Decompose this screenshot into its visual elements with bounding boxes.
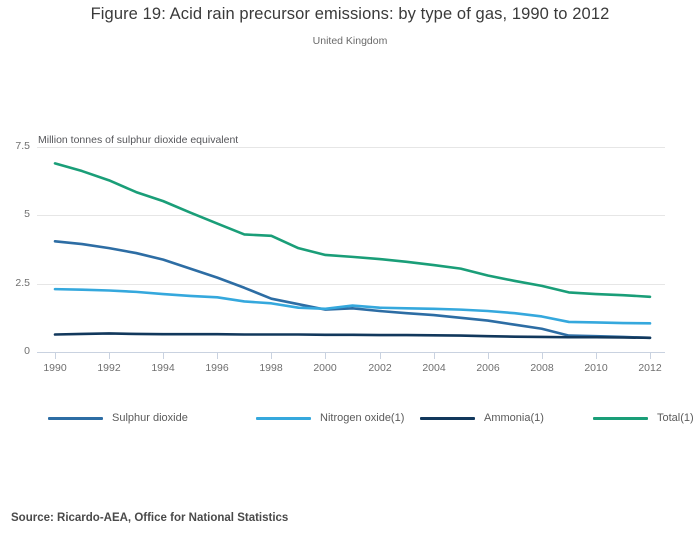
legend-label: Sulphur dioxide [112,412,188,424]
legend-label: Ammonia(1) [484,412,544,424]
series-line [55,163,650,296]
series-line [55,289,650,323]
chart-figure: Figure 19: Acid rain precursor emissions… [0,0,700,549]
legend-item[interactable]: Total(1) [593,408,694,428]
source-note: Source: Ricardo-AEA, Office for National… [11,512,288,524]
legend-item[interactable]: Sulphur dioxide [48,408,188,428]
legend-item[interactable]: Nitrogen oxide(1) [256,408,404,428]
plot-area: 02.557.5 1990199219941996199820002002200… [0,0,700,549]
legend-swatch [420,417,475,420]
legend-label: Total(1) [657,412,694,424]
legend-swatch [48,417,103,420]
data-lines [0,0,700,549]
chart-legend: Sulphur dioxideNitrogen oxide(1)Ammonia(… [48,408,688,430]
legend-swatch [593,417,648,420]
legend-swatch [256,417,311,420]
legend-item[interactable]: Ammonia(1) [420,408,544,428]
legend-label: Nitrogen oxide(1) [320,412,404,424]
